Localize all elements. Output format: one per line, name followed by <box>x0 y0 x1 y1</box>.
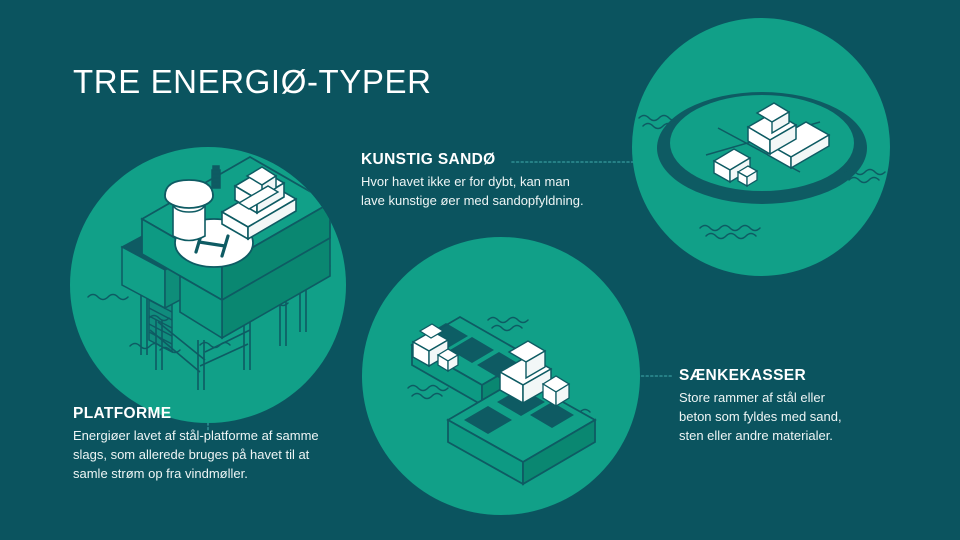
callout-body-platforme: Energiøer lavet af stål-platforme af sam… <box>73 427 373 484</box>
callout-body-line: sten eller andre materialer. <box>679 427 889 446</box>
sand-island-illustration <box>632 18 890 276</box>
callout-body-line: Energiøer lavet af stål-platforme af sam… <box>73 427 373 446</box>
callout-body-line: beton som fyldes med sand, <box>679 408 889 427</box>
callout-title-saenkekasser: SÆNKEKASSER <box>679 366 889 385</box>
callout-body-line: samle strøm op fra vindmøller. <box>73 465 373 484</box>
callout-platforme: PLATFORME Energiøer lavet af stål-platfo… <box>73 404 373 484</box>
platform-illustration <box>70 147 346 423</box>
callout-body-line: lave kunstige øer med sandopfyldning. <box>361 192 626 211</box>
callout-body-line: slags, som allerede bruges på havet til … <box>73 446 373 465</box>
platform-tank <box>165 180 213 241</box>
platform-mast <box>212 166 220 188</box>
page-title: TRE ENERGIØ-TYPER <box>73 62 432 102</box>
callout-body-line: Store rammer af stål eller <box>679 389 889 408</box>
callout-body-line: Hvor havet ikke er for dybt, kan man <box>361 173 626 192</box>
caisson-illustration <box>362 237 640 515</box>
callout-saenkekasser: SÆNKEKASSER Store rammer af stål eller b… <box>679 366 889 446</box>
callout-body-saenkekasser: Store rammer af stål eller beton som fyl… <box>679 389 889 446</box>
callout-kunstig-sando: KUNSTIG SANDØ Hvor havet ikke er for dyb… <box>361 150 626 211</box>
slide-canvas: TRE ENERGIØ-TYPER KUNSTIG SANDØ Hvor hav… <box>0 0 960 540</box>
callout-title-platforme: PLATFORME <box>73 404 373 423</box>
callout-title-kunstig-sando: KUNSTIG SANDØ <box>361 150 626 169</box>
callout-body-kunstig-sando: Hvor havet ikke er for dybt, kan man lav… <box>361 173 626 211</box>
